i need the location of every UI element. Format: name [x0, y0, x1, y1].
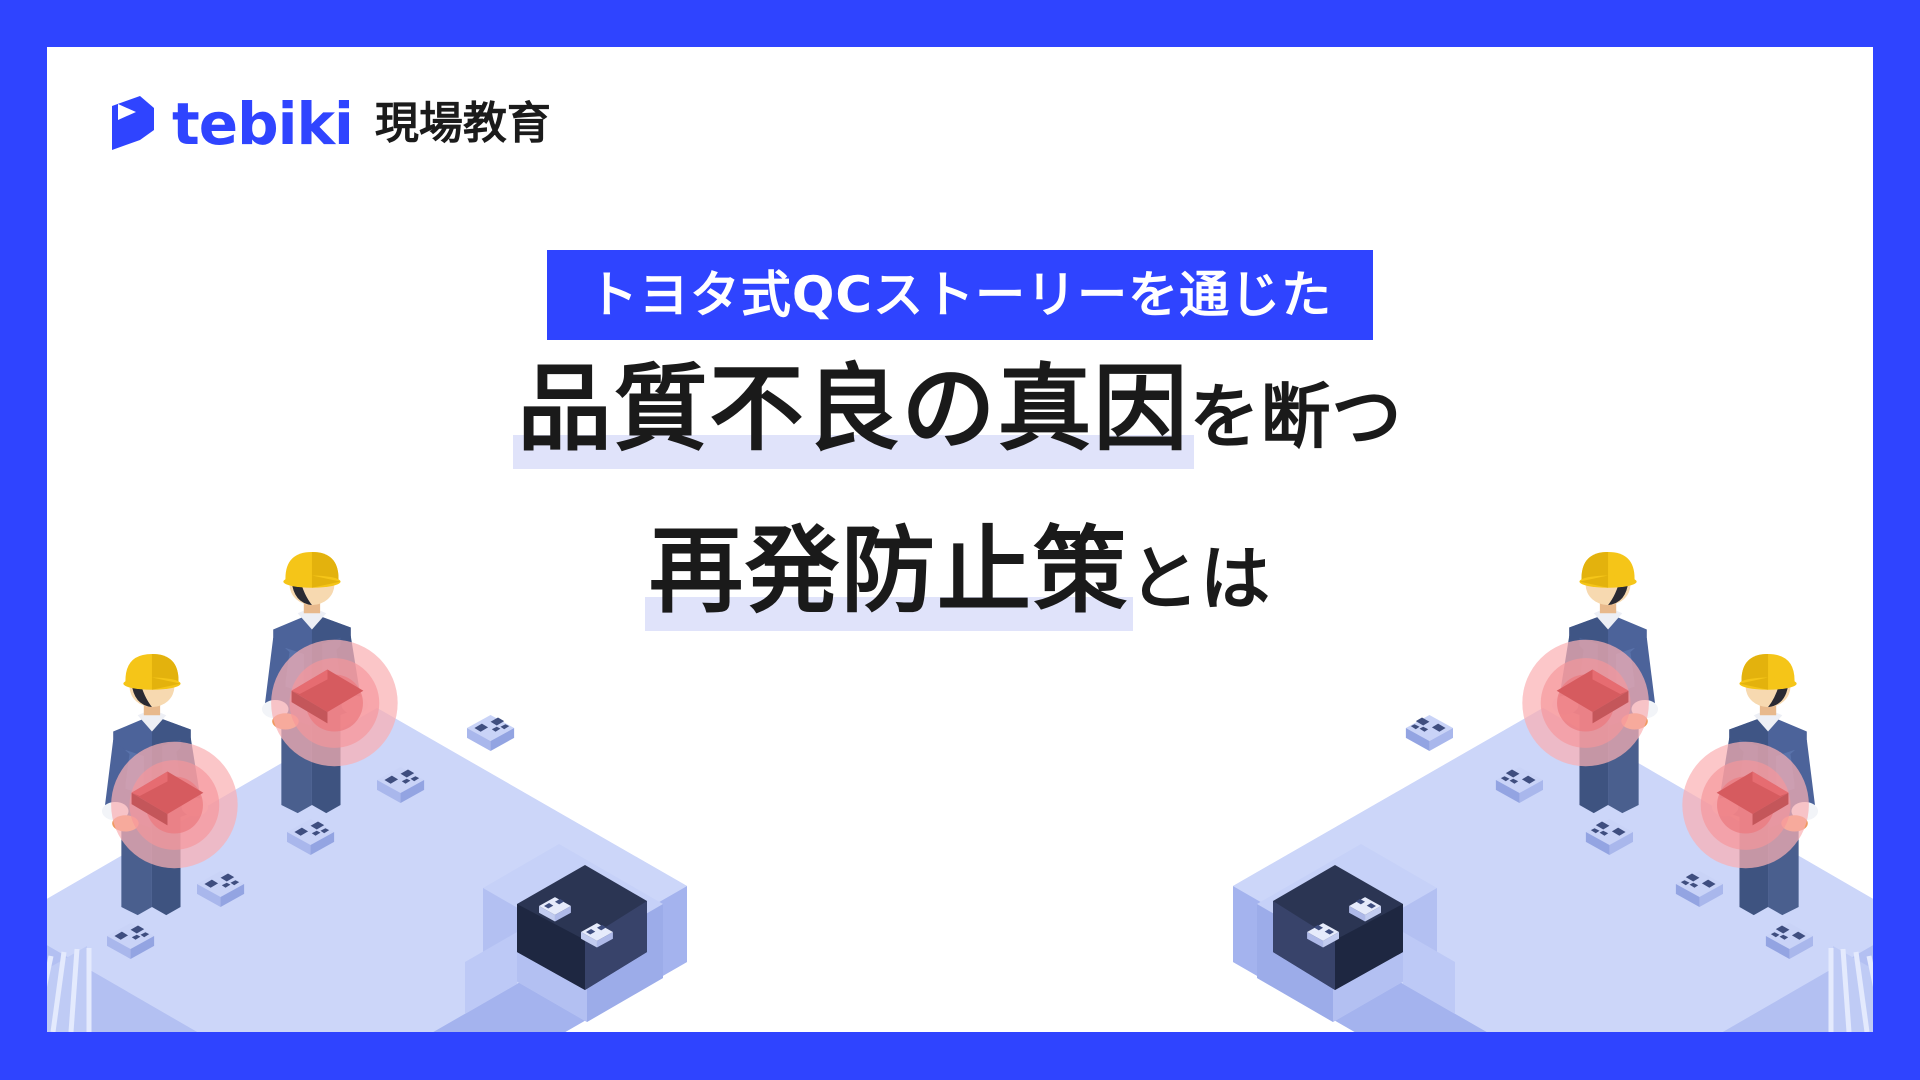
eyebrow-banner-label: トヨタ式QCストーリーを通じた — [588, 270, 1332, 320]
brand-logo[interactable]: tebiki 現場教育 — [110, 95, 551, 153]
factory-illustration-right — [1233, 492, 1873, 1032]
play-triangle-book-icon — [110, 96, 158, 152]
headline-line-1-tail: を断つ — [1190, 371, 1403, 465]
headline-line-1: 品質不良の真因を断つ — [47, 347, 1873, 473]
slide-frame: tebiki 現場教育 トヨタ式QCストーリーを通じた 品質不良の真因を断つ 再… — [0, 0, 1920, 1080]
logo-suffix-label: 現場教育 — [375, 102, 551, 146]
factory-scene-svg-mirrored — [1233, 492, 1873, 1032]
factory-scene-svg — [47, 492, 687, 1032]
slide-canvas: tebiki 現場教育 トヨタ式QCストーリーを通じた 品質不良の真因を断つ 再… — [47, 47, 1873, 1032]
headline-line-1-strong: 品質不良の真因 — [517, 347, 1189, 473]
headline-line-2-strong: 再発防止策 — [649, 509, 1129, 635]
factory-illustration-left — [47, 492, 687, 1032]
logo-wordmark: tebiki — [172, 95, 353, 153]
eyebrow-banner: トヨタ式QCストーリーを通じた — [547, 250, 1373, 340]
